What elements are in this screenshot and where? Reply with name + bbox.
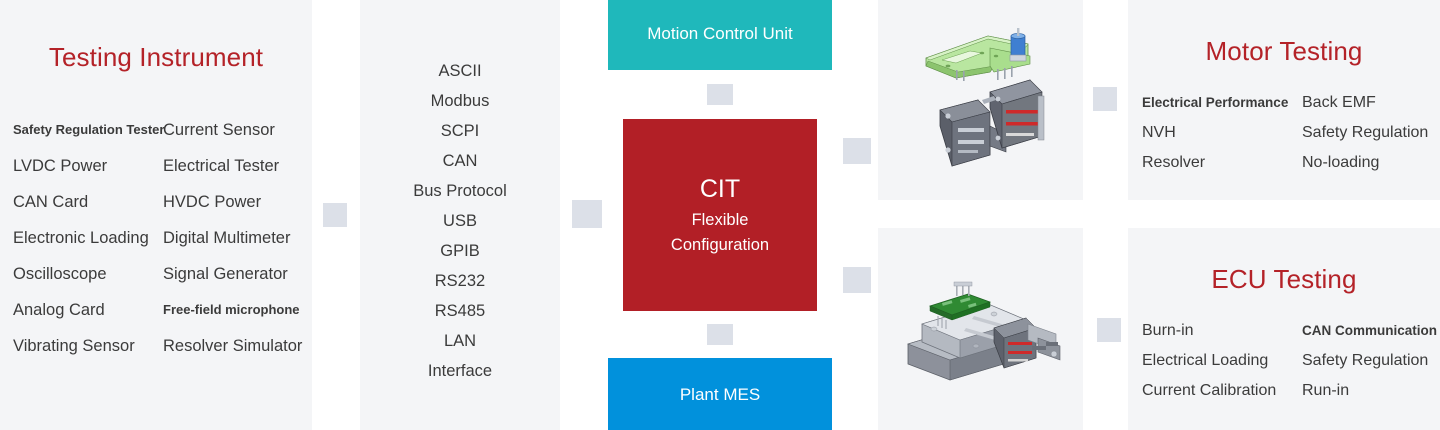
ecu-fixture-image-panel (878, 228, 1083, 430)
ecu-testing-item-5: Run-in (1302, 376, 1440, 406)
protocol-item-8: RS485 (360, 296, 560, 326)
testing-instrument-item-11: Free-field microphone (163, 292, 299, 328)
connector-cit-ecu-fixture (843, 267, 871, 293)
testing-instrument-item-7: Digital Multimeter (163, 220, 299, 256)
protocol-item-2: SCPI (360, 116, 560, 146)
testing-instrument-title: Testing Instrument (0, 42, 312, 73)
protocol-interface-panel: ASCIIModbusSCPICANBus ProtocolUSBGPIBRS2… (360, 0, 560, 430)
testing-instrument-item-8: Oscilloscope (13, 256, 163, 292)
connector-cit-motor-fixture (843, 138, 871, 164)
protocol-item-7: RS232 (360, 266, 560, 296)
connector-fixture-motor-testing (1093, 87, 1117, 111)
protocol-item-4: Bus Protocol (360, 176, 560, 206)
cit-subtitle-line1: Flexible (692, 208, 749, 233)
motion-control-unit-label: Motion Control Unit (647, 24, 793, 44)
ecu-testing-title: ECU Testing (1128, 264, 1440, 295)
cit-title: CIT (700, 172, 740, 206)
testing-instrument-item-0: Safety Regulation Tester (13, 112, 163, 148)
testing-instrument-item-9: Signal Generator (163, 256, 299, 292)
ecu-testing-item-4: Current Calibration (1142, 376, 1302, 406)
ecu-testing-item-0: Burn-in (1142, 316, 1302, 346)
motor-testing-item-1: Back EMF (1302, 88, 1440, 118)
testing-instrument-item-10: Analog Card (13, 292, 163, 328)
ecu-testing-item-3: Safety Regulation (1302, 346, 1440, 376)
motor-testing-item-5: No-loading (1302, 148, 1440, 178)
ecu-testing-item-1: CAN Communication (1302, 316, 1440, 346)
testing-instrument-item-4: CAN Card (13, 184, 163, 220)
testing-instrument-item-3: Electrical Tester (163, 148, 299, 184)
ecu-test-fixture-icon (878, 228, 1083, 430)
testing-instrument-list: Safety Regulation TesterCurrent SensorLV… (13, 112, 299, 364)
protocol-item-5: USB (360, 206, 560, 236)
motor-testing-item-2: NVH (1142, 118, 1302, 148)
protocol-item-6: GPIB (360, 236, 560, 266)
testing-instrument-item-5: HVDC Power (163, 184, 299, 220)
connector-fixture-ecu-testing (1097, 318, 1121, 342)
connector-cit-mes (707, 324, 733, 345)
motor-testing-item-0: Electrical Performance (1142, 88, 1302, 118)
protocol-item-10: Interface (360, 356, 560, 386)
testing-instrument-item-6: Electronic Loading (13, 220, 163, 256)
testing-instrument-item-12: Vibrating Sensor (13, 328, 163, 364)
motion-control-unit-box[interactable]: Motion Control Unit (608, 0, 832, 70)
connector-instrument-protocol (323, 203, 347, 227)
plant-mes-box[interactable]: Plant MES (608, 358, 832, 430)
testing-instrument-panel: Testing Instrument Safety Regulation Tes… (0, 0, 312, 430)
testing-instrument-item-13: Resolver Simulator (163, 328, 299, 364)
cit-subtitle-line2: Configuration (671, 233, 769, 258)
motor-testing-list: Electrical PerformanceBack EMFNVHSafety … (1142, 88, 1440, 178)
protocol-item-0: ASCII (360, 56, 560, 86)
plant-mes-label: Plant MES (680, 385, 760, 405)
motor-testing-panel: Motor Testing Electrical PerformanceBack… (1128, 0, 1440, 200)
connector-protocol-cit (572, 200, 602, 228)
testing-instrument-item-2: LVDC Power (13, 148, 163, 184)
cit-core-box[interactable]: CIT Flexible Configuration (623, 119, 817, 311)
motor-testing-item-3: Safety Regulation (1302, 118, 1440, 148)
motor-testing-item-4: Resolver (1142, 148, 1302, 178)
protocol-item-3: CAN (360, 146, 560, 176)
protocol-item-9: LAN (360, 326, 560, 356)
motor-testing-title: Motor Testing (1128, 36, 1440, 67)
system-architecture-diagram: Testing Instrument Safety Regulation Tes… (0, 0, 1440, 430)
ecu-testing-list: Burn-inCAN CommunicationElectrical Loadi… (1142, 316, 1440, 406)
ecu-testing-item-2: Electrical Loading (1142, 346, 1302, 376)
protocol-list: ASCIIModbusSCPICANBus ProtocolUSBGPIBRS2… (360, 56, 560, 386)
motor-test-fixture-icon (878, 0, 1083, 200)
connector-motion-cit (707, 84, 733, 105)
testing-instrument-item-1: Current Sensor (163, 112, 299, 148)
ecu-testing-panel: ECU Testing Burn-inCAN CommunicationElec… (1128, 228, 1440, 430)
protocol-item-1: Modbus (360, 86, 560, 116)
motor-fixture-image-panel (878, 0, 1083, 200)
